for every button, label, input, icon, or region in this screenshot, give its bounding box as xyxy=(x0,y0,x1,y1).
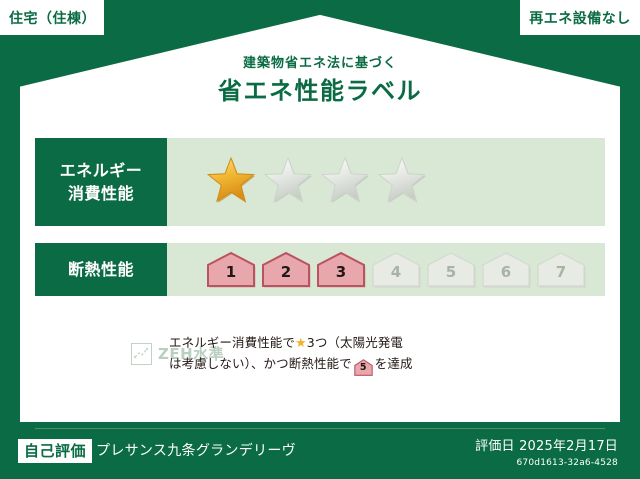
insulation-performance-label-text: 断熱性能 xyxy=(68,258,134,281)
inline-insulation-chip: 5 xyxy=(354,359,373,373)
renewable-energy-badge-label: 再エネ設備なし xyxy=(529,8,631,28)
insulation-chip-value: 1 xyxy=(226,265,236,288)
insulation-chip: 2 xyxy=(260,251,312,288)
self-evaluation-badge: 自己評価 xyxy=(18,439,92,463)
insulation-chip-scale: 1234567 xyxy=(205,251,587,288)
energy-performance-label-line2: 消費性能 xyxy=(68,184,134,203)
zeh-desc-part1: エネルギー消費性能で xyxy=(169,335,295,350)
evaluation-date: 評価日 2025年2月17日 xyxy=(475,438,618,456)
inline-insulation-chip-value: 5 xyxy=(354,359,373,376)
star-icon-empty xyxy=(262,157,314,207)
insulation-chip: 4 xyxy=(370,251,422,288)
insulation-chip-value: 5 xyxy=(446,265,456,288)
energy-performance-label: エネルギー 消費性能 xyxy=(35,138,167,226)
zeh-description: エネルギー消費性能で★3つ（太陽光発電 は考慮しない）、かつ断熱性能で 5 を達… xyxy=(153,333,605,374)
title-subtitle: 建築物省エネ法に基づく xyxy=(0,56,640,72)
zeh-desc-part4: を達成 xyxy=(375,356,413,371)
footer-divider xyxy=(35,428,605,429)
insulation-chip: 6 xyxy=(480,251,532,288)
insulation-chip-value: 3 xyxy=(336,265,346,288)
renewable-energy-badge: 再エネ設備なし xyxy=(520,0,640,35)
insulation-chip-value: 4 xyxy=(391,265,401,288)
insulation-chip-value: 2 xyxy=(281,265,291,288)
footer-left: 自己評価 プレサンス九条グランデリーヴ xyxy=(18,439,296,463)
insulation-chip-value: 6 xyxy=(501,265,511,288)
energy-performance-row: エネルギー 消費性能 xyxy=(35,138,605,226)
energy-performance-value xyxy=(167,138,605,226)
zeh-desc-part2: 3つ（太陽光発電 xyxy=(307,335,403,350)
star-rating xyxy=(205,157,428,207)
star-icon-empty xyxy=(319,157,371,207)
zeh-standard-note: ZEH水準 エネルギー消費性能で★3つ（太陽光発電 は考慮しない）、かつ断熱性能… xyxy=(35,333,605,374)
insulation-chip: 1 xyxy=(205,251,257,288)
insulation-chip: 3 xyxy=(315,251,367,288)
insulation-performance-row: 断熱性能 1234567 xyxy=(35,243,605,296)
zeh-mark: ZEH水準 xyxy=(35,343,153,365)
zeh-desc-part3: は考慮しない）、かつ断熱性能で xyxy=(169,356,352,371)
footer-right: 評価日 2025年2月17日 670d1613-32a6-4528 xyxy=(475,438,618,468)
energy-label-card: 住宅（住棟） 再エネ設備なし 建築物省エネ法に基づく 省エネ性能ラベル エネルギ… xyxy=(0,0,640,479)
property-name: プレサンス九条グランデリーヴ xyxy=(96,442,296,461)
footer: 自己評価 プレサンス九条グランデリーヴ 評価日 2025年2月17日 670d1… xyxy=(0,434,640,479)
insulation-performance-value: 1234567 xyxy=(167,243,605,296)
zeh-chart-icon xyxy=(131,343,152,365)
inline-star-icon: ★ xyxy=(295,336,307,351)
title-main: 省エネ性能ラベル xyxy=(0,76,640,107)
energy-performance-label-line1: エネルギー xyxy=(60,161,143,180)
evaluation-id: 670d1613-32a6-4528 xyxy=(475,458,618,469)
building-type-badge-label: 住宅（住棟） xyxy=(9,8,95,28)
insulation-chip-value: 7 xyxy=(556,265,566,288)
insulation-chip: 7 xyxy=(535,251,587,288)
insulation-performance-label: 断熱性能 xyxy=(35,243,167,296)
page-title: 建築物省エネ法に基づく 省エネ性能ラベル xyxy=(0,56,640,107)
star-icon-filled xyxy=(205,157,257,207)
star-icon-empty xyxy=(376,157,428,207)
insulation-chip: 5 xyxy=(425,251,477,288)
building-type-badge: 住宅（住棟） xyxy=(0,0,104,35)
